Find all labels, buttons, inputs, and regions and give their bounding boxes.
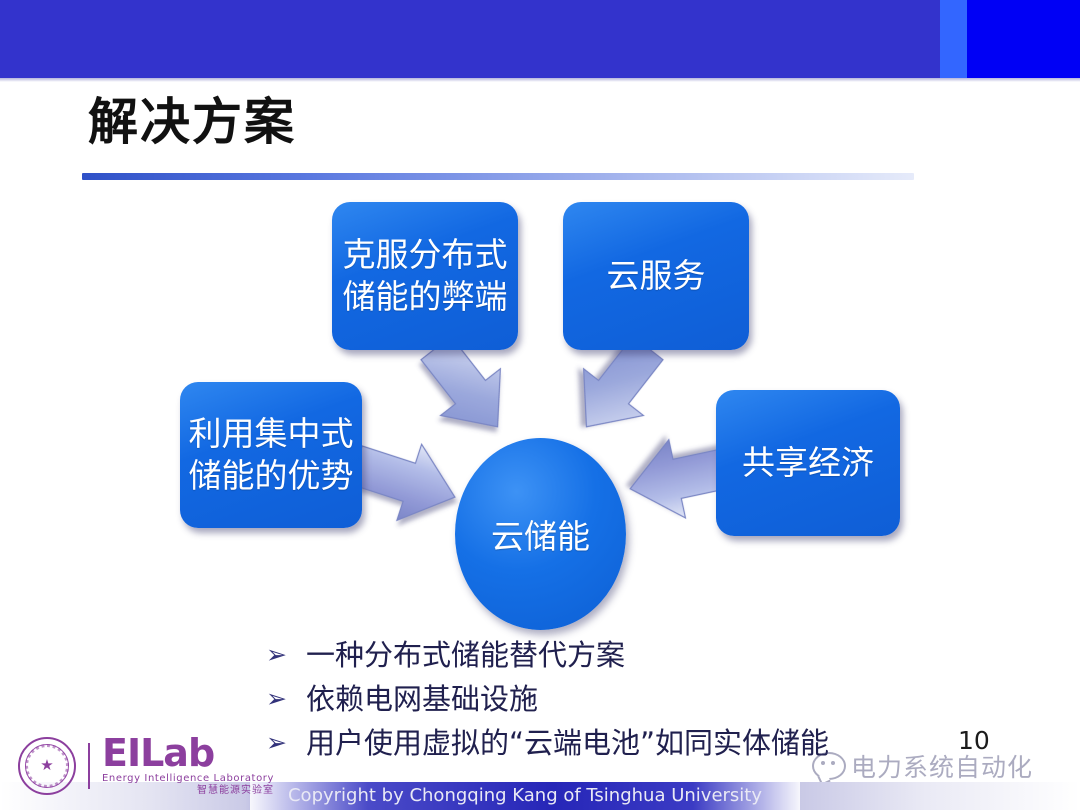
- page-number: 10: [958, 726, 990, 755]
- arrow-bullet-icon: ➢: [266, 680, 306, 718]
- bullet-text: 一种分布式储能替代方案: [306, 636, 625, 674]
- list-item: ➢ 用户使用虚拟的“云端电池”如同实体储能: [266, 724, 966, 762]
- eilab-subtitle-en: Energy Intelligence Laboratory: [102, 773, 274, 785]
- bullet-text: 依赖电网基础设施: [306, 680, 538, 718]
- node-label: 共享经济: [742, 442, 874, 484]
- slide-canvas: 解决方案: [0, 0, 1080, 810]
- diagram-hub-cloud-energy-storage[interactable]: 云储能: [455, 438, 626, 630]
- eilab-logo: EILab Energy Intelligence Laboratory 智慧能…: [102, 735, 274, 797]
- arrow-bullet-icon: ➢: [266, 636, 306, 674]
- arrow-centralized-to-hub: [344, 427, 468, 535]
- logo-group: ★ EILab Energy Intelligence Laboratory 智…: [18, 728, 274, 804]
- diagram-node-centralized-advantage[interactable]: 利用集中式储能的优势: [180, 382, 362, 528]
- seal-star-icon: ★: [40, 758, 53, 773]
- university-seal-icon: ★: [18, 737, 76, 795]
- node-label: 克服分布式储能的弊端: [340, 234, 510, 318]
- footer-bar-right-fade: [800, 782, 1080, 810]
- list-item: ➢ 一种分布式储能替代方案: [266, 636, 966, 674]
- diagram-node-cloud-service[interactable]: 云服务: [563, 202, 749, 350]
- copyright-text: Copyright by Chongqing Kang of Tsinghua …: [245, 784, 805, 808]
- list-item: ➢ 依赖电网基础设施: [266, 680, 966, 718]
- diagram-node-sharing-economy[interactable]: 共享经济: [716, 390, 900, 536]
- bullet-list: ➢ 一种分布式储能替代方案 ➢ 依赖电网基础设施 ➢ 用户使用虚拟的“云端电池”…: [266, 636, 966, 768]
- bullet-text: 用户使用虚拟的“云端电池”如同实体储能: [306, 724, 829, 762]
- eilab-subtitle-cn: 智慧能源实验室: [102, 785, 274, 797]
- logo-divider: [88, 743, 90, 789]
- hub-label: 云储能: [491, 510, 590, 558]
- node-label: 利用集中式储能的优势: [188, 413, 354, 497]
- node-label: 云服务: [607, 255, 706, 297]
- eilab-wordmark: EILab: [102, 735, 274, 771]
- diagram-node-overcome-drawbacks[interactable]: 克服分布式储能的弊端: [332, 202, 518, 350]
